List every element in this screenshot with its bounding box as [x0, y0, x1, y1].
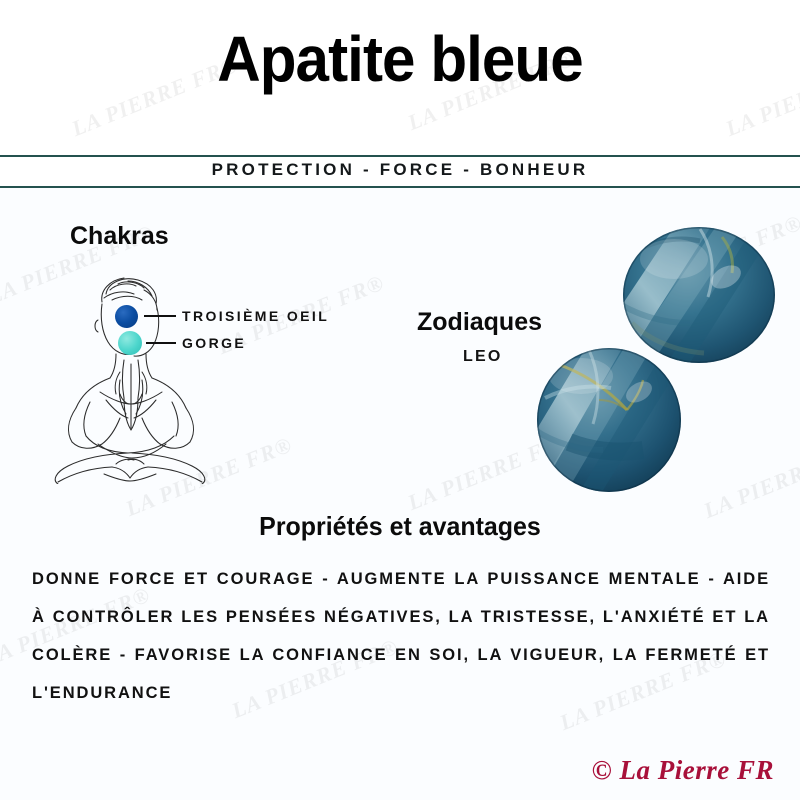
properties-body-text: DONNE FORCE ET COURAGE - AUGMENTE LA PUI… [32, 560, 770, 750]
chakra-label-third-eye: TROISIÈME OEIL [182, 308, 329, 324]
meditating-figure-illustration [28, 268, 228, 484]
leader-line-throat [146, 342, 176, 344]
zodiac-sign-value: LEO [463, 348, 503, 366]
divider-rule-top [0, 155, 800, 157]
subtitle-keywords: PROTECTION - FORCE - BONHEUR [0, 160, 800, 180]
chakras-heading: Chakras [70, 222, 169, 251]
stone-info-card: LA PIERRE FR® LA PIERRE FR® LA PIERRE FR… [0, 0, 800, 800]
chakra-dot-third-eye [115, 305, 138, 328]
chakra-label-throat: GORGE [182, 335, 246, 351]
apatite-stone-lower [523, 338, 695, 500]
zodiac-heading: Zodiaques [417, 308, 542, 337]
page-title: Apatite bleue [24, 26, 776, 93]
leader-line-third-eye [144, 315, 176, 317]
brand-watermark-footer: © La Pierre FR [592, 755, 774, 786]
title-block: Apatite bleue [0, 26, 800, 93]
chakra-dot-throat [118, 331, 142, 355]
properties-heading: Propriétés et avantages [16, 511, 784, 542]
divider-rule-bottom [0, 186, 800, 188]
